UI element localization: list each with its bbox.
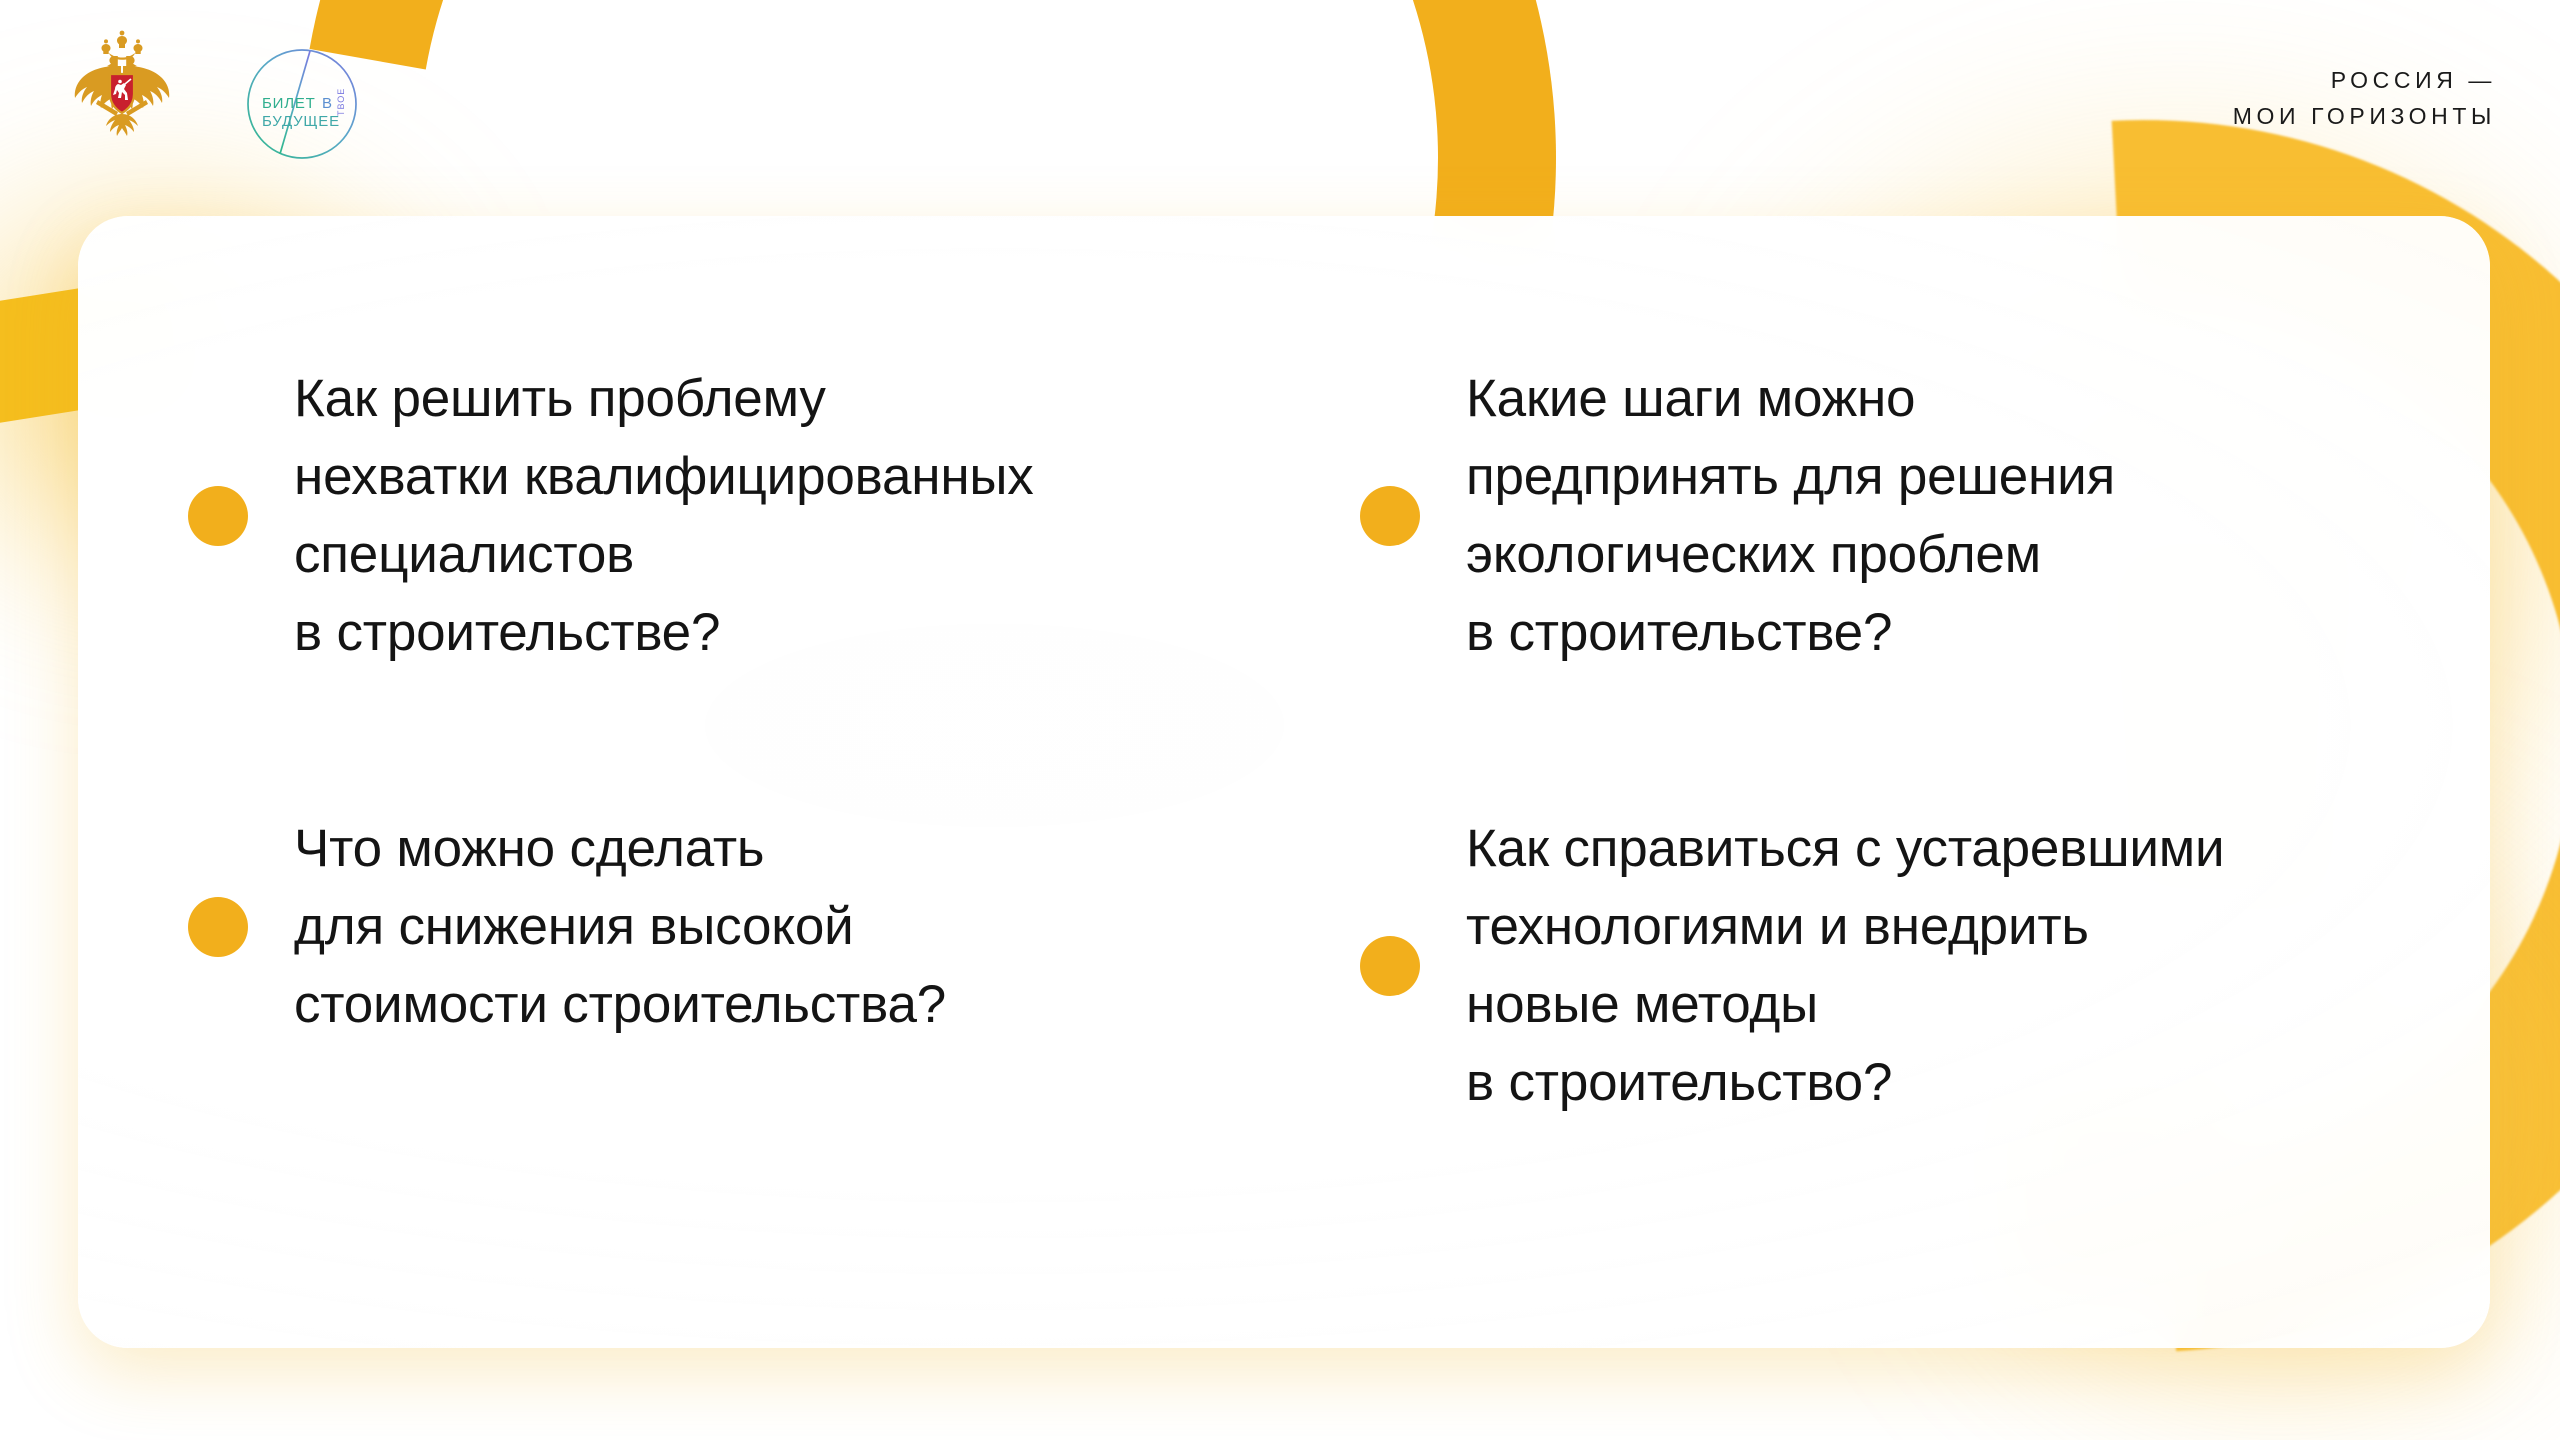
question-text-3: Что можно сделать для снижения высокой с…	[294, 810, 946, 1044]
question-item-2: Какие шаги можно предпринять для решения…	[1360, 360, 2115, 672]
question-item-3: Что можно сделать для снижения высокой с…	[188, 810, 946, 1044]
svg-text:БИЛЕТ: БИЛЕТ	[262, 95, 316, 112]
bullet-dot-icon	[188, 897, 248, 957]
question-text-1: Как решить проблему нехватки квалифициро…	[294, 360, 1034, 672]
question-text-2: Какие шаги можно предпринять для решения…	[1466, 360, 2115, 672]
question-item-1: Как решить проблему нехватки квалифициро…	[188, 360, 1034, 672]
svg-text:БУДУЩЕЕ: БУДУЩЕЕ	[262, 113, 340, 130]
svg-text:ТВОЕ: ТВОЕ	[336, 88, 346, 116]
brand-wordmark: РОССИЯ — МОИ ГОРИЗОНТЫ	[2233, 62, 2496, 134]
questions-group: Как решить проблему нехватки квалифициро…	[0, 0, 2560, 1440]
bilet-v-budushchee-logo-icon: БИЛЕТ В БУДУЩЕЕ ТВОЕ	[236, 38, 368, 170]
slide-root: БИЛЕТ В БУДУЩЕЕ ТВОЕ РОССИЯ — МОИ ГОРИЗО…	[0, 0, 2560, 1440]
bullet-dot-icon	[1360, 936, 1420, 996]
slide-header: БИЛЕТ В БУДУЩЕЕ ТВОЕ РОССИЯ — МОИ ГОРИЗО…	[0, 0, 2560, 200]
question-text-4: Как справиться с устаревшими технологиям…	[1466, 810, 2224, 1122]
question-item-4: Как справиться с устаревшими технологиям…	[1360, 810, 2224, 1122]
russian-coat-of-arms-icon	[62, 22, 182, 142]
bullet-dot-icon	[1360, 486, 1420, 546]
bullet-dot-icon	[188, 486, 248, 546]
svg-text:В: В	[322, 95, 332, 112]
